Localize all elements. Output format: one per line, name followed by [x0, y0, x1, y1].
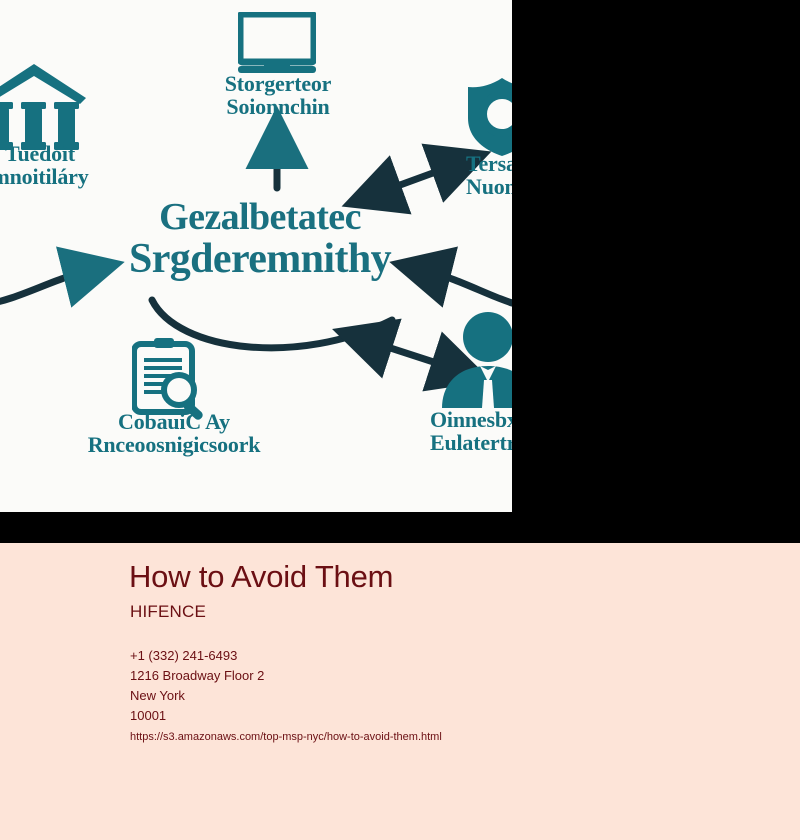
- businessperson-icon: [440, 310, 512, 408]
- node-label-document-review: CobauiC Ay Rnceoosnigicsoork: [78, 410, 270, 457]
- phone-number: +1 (332) 241-6493: [130, 646, 264, 666]
- address-zip: 10001: [130, 706, 264, 726]
- node-label-shield: Tersas Nuomi: [466, 152, 512, 199]
- node-label-institution: Tuedoit mnoitiláry: [0, 142, 120, 189]
- hero-illustration: Tuedoit mnoitiláry Storgerteor Soionnchi…: [0, 0, 512, 512]
- shield-magnifier-icon: [468, 76, 512, 158]
- clipboard-magnifier-icon: [132, 338, 210, 420]
- address-city: New York: [130, 686, 264, 706]
- info-block: How to Avoid Them HIFENCE +1 (332) 241-6…: [0, 543, 800, 840]
- node-label-computer: Storgerteor Soionnchin: [188, 72, 368, 119]
- laptop-monitor-icon: [238, 12, 316, 74]
- brand-name: HIFENCE: [130, 602, 206, 622]
- node-label-person: Oinnesbx Eulatertrd: [430, 408, 512, 455]
- source-url-link[interactable]: https://s3.amazonaws.com/top-msp-nyc/how…: [130, 731, 442, 743]
- media-letterbox-band: Tuedoit mnoitiláry Storgerteor Soionnchi…: [0, 0, 800, 543]
- address-street: 1216 Broadway Floor 2: [130, 666, 264, 686]
- diagram-center-heading: Gezalbetatec Srgderemnithy: [60, 198, 460, 281]
- arrow-center-to-shield: [381, 166, 452, 192]
- page-title: How to Avoid Them: [129, 559, 393, 595]
- contact-details: +1 (332) 241-6493 1216 Broadway Floor 2 …: [130, 646, 264, 726]
